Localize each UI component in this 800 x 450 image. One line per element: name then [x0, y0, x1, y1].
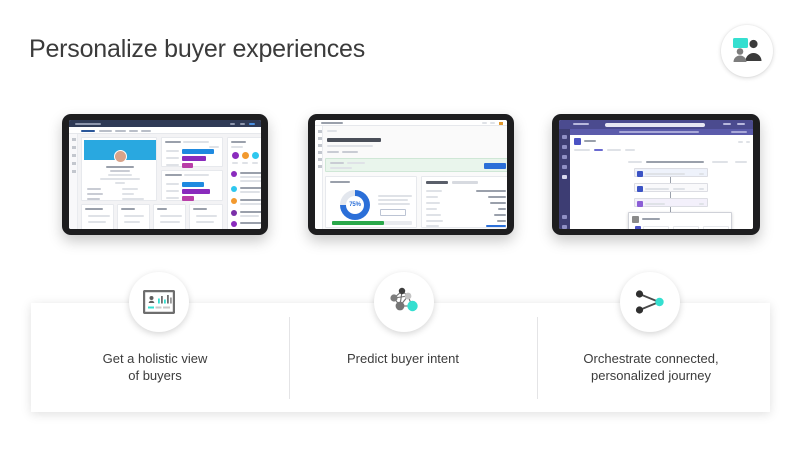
- screenshot-tablet-teams-flow: [552, 114, 760, 235]
- feature-caption-line-2: personalized journey: [527, 367, 775, 384]
- tablet-2-screen: 75%: [315, 120, 507, 229]
- t3-flow-step[interactable]: [634, 198, 708, 207]
- t1-sidebar: [69, 134, 78, 229]
- feature-icon-circle-holistic-view: [129, 272, 189, 332]
- t1-profile-card: [81, 137, 157, 201]
- feature-caption: Predict buyer intent: [279, 350, 527, 367]
- t2-page-heading: [327, 138, 381, 142]
- t1-mini-card: [189, 204, 223, 229]
- t2-status-banner: [325, 158, 507, 172]
- page-title: Personalize buyer experiences: [29, 34, 365, 64]
- t3-condition-panel[interactable]: [628, 212, 732, 229]
- feature-caption-line-1: Get a holistic view: [31, 350, 279, 367]
- t1-chart-card-a: [161, 137, 223, 167]
- t3-condition-operator[interactable]: [673, 226, 699, 229]
- feature-icon-circle-predict-intent: [374, 272, 434, 332]
- slide-root: Personalize buyer experiences: [0, 0, 800, 450]
- t1-tabbar: [69, 127, 261, 134]
- screenshot-tablet-customer-profile: [62, 114, 268, 235]
- screenshot-tablet-churn-insight: 75%: [308, 114, 514, 235]
- t1-bar-a3: [182, 163, 193, 168]
- t1-bar-b3: [182, 196, 194, 201]
- t2-sidebar: [315, 126, 323, 229]
- t3-search-box[interactable]: [605, 123, 705, 127]
- header-badge: [721, 25, 773, 77]
- t2-progress-fill: [332, 221, 384, 225]
- t1-avatar: [114, 150, 127, 163]
- feature-caption: Get a holistic view of buyers: [31, 350, 279, 384]
- t3-flow-canvas: [570, 135, 753, 229]
- t1-chart-card-b: [161, 170, 223, 201]
- share-connect-icon: [633, 287, 667, 317]
- t1-timeline-dot: [232, 152, 239, 159]
- people-with-screen-icon: [732, 37, 762, 65]
- t2-tab[interactable]: [452, 181, 478, 184]
- feature-caption: Orchestrate connected, personalized jour…: [527, 350, 775, 384]
- t3-condition-value[interactable]: [703, 226, 729, 229]
- t2-donut-chart: 75%: [340, 190, 370, 220]
- t1-bar-b2: [182, 189, 210, 194]
- t3-app-rail: [559, 129, 570, 229]
- t1-mini-card: [153, 204, 186, 229]
- feature-icon-circle-orchestrate: [620, 272, 680, 332]
- t1-timeline-card: [227, 137, 261, 229]
- t3-condition-field[interactable]: [643, 226, 669, 229]
- t2-titlebar: [315, 120, 507, 126]
- t1-bar-a2: [182, 156, 206, 161]
- feature-caption-line-1: Predict buyer intent: [279, 350, 527, 367]
- feature-caption-line-1: Orchestrate connected,: [527, 350, 775, 367]
- tablet-3-screen: [559, 120, 753, 229]
- t2-donut-value: 75%: [349, 202, 360, 208]
- t1-mini-card: [117, 204, 150, 229]
- t3-flow-step[interactable]: [634, 183, 708, 192]
- t1-bar-a1: [182, 149, 214, 154]
- t1-bar-b1: [182, 182, 204, 187]
- t2-primary-button[interactable]: [484, 163, 506, 169]
- t2-details-card: [421, 176, 507, 228]
- t2-tab-selected[interactable]: [426, 181, 448, 184]
- t2-insight-card: 75%: [325, 176, 417, 228]
- t1-titlebar: [69, 120, 261, 127]
- t1-mini-card: [81, 204, 114, 229]
- tablet-1-screen: [69, 120, 261, 229]
- t2-secondary-button[interactable]: [380, 209, 406, 216]
- dashboard-chart-icon: [143, 290, 175, 314]
- t3-flow-step[interactable]: [634, 168, 708, 177]
- network-nodes-icon: [387, 287, 421, 317]
- t1-timeline-dot: [252, 152, 259, 159]
- t1-timeline-dot: [242, 152, 249, 159]
- feature-caption-line-2: of buyers: [31, 367, 279, 384]
